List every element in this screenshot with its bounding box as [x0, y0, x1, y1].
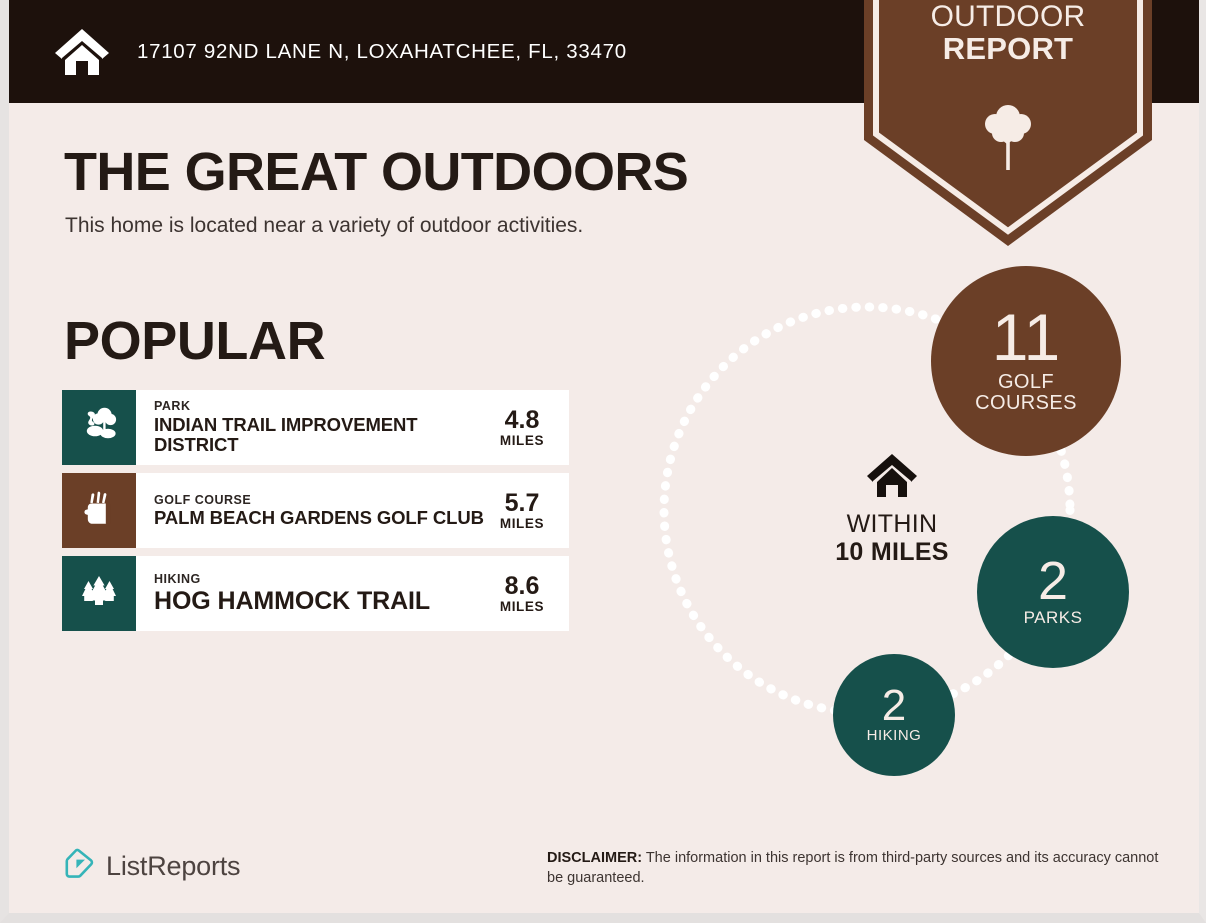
within-label-line2: 10 MILES — [767, 539, 1017, 567]
stat-bubble-parks[interactable]: 2 PARKS — [977, 516, 1129, 668]
page-title: THE GREAT OUTDOORS — [64, 141, 688, 203]
stat-value: 2 — [1038, 557, 1068, 607]
disclaimer-label: DISCLAIMER: — [547, 850, 642, 866]
stat-label: PARKS — [1024, 609, 1083, 627]
outdoor-report-badge: OUTDOOR REPORT — [864, 0, 1152, 246]
list-item[interactable]: GOLF COURSE PALM BEACH GARDENS GOLF CLUB… — [62, 473, 569, 548]
poi-category: HIKING — [154, 572, 481, 588]
poi-category: GOLF COURSE — [154, 493, 481, 509]
stat-label-line1: GOLF — [998, 371, 1054, 393]
property-address: 17107 92ND LANE N, LOXAHATCHEE, FL, 3347… — [137, 40, 627, 64]
poi-distance-unit: MILES — [500, 433, 544, 448]
poi-distance: 8.6 MILES — [481, 556, 569, 631]
listreports-logo[interactable]: ListReports — [64, 848, 240, 885]
poi-distance: 4.8 MILES — [481, 390, 569, 465]
poi-distance-value: 4.8 — [505, 407, 540, 433]
tree-icon — [982, 100, 1034, 172]
poi-icon-tile — [62, 473, 136, 548]
poi-name: PALM BEACH GARDENS GOLF CLUB — [154, 508, 481, 528]
poi-name: HOG HAMMOCK TRAIL — [154, 588, 481, 616]
stat-label: GOLF COURSES — [975, 372, 1077, 415]
listreports-house-icon — [64, 848, 94, 885]
poi-text: GOLF COURSE PALM BEACH GARDENS GOLF CLUB — [136, 473, 481, 548]
page-subtitle: This home is located near a variety of o… — [65, 214, 583, 238]
stat-bubble-golf-courses[interactable]: 11 GOLF COURSES — [931, 266, 1121, 456]
poi-distance-value: 5.7 — [505, 490, 540, 516]
list-item[interactable]: HIKING HOG HAMMOCK TRAIL 8.6 MILES — [62, 556, 569, 631]
home-icon — [865, 487, 919, 504]
pine-trees-icon — [79, 571, 119, 616]
list-item[interactable]: PARK INDIAN TRAIL IMPROVEMENT DISTRICT 4… — [62, 390, 569, 465]
outdoor-report-page: 17107 92ND LANE N, LOXAHATCHEE, FL, 3347… — [0, 0, 1206, 923]
listreports-wordmark: ListReports — [106, 851, 240, 882]
poi-category: PARK — [154, 399, 481, 415]
poi-name: INDIAN TRAIL IMPROVEMENT DISTRICT — [154, 415, 481, 456]
poi-text: PARK INDIAN TRAIL IMPROVEMENT DISTRICT — [136, 390, 481, 465]
poi-distance-value: 8.6 — [505, 573, 540, 599]
poi-text: HIKING HOG HAMMOCK TRAIL — [136, 556, 481, 631]
stat-bubble-hiking[interactable]: 2 HIKING — [833, 654, 955, 776]
poi-distance-unit: MILES — [500, 599, 544, 614]
section-heading-popular: POPULAR — [64, 310, 325, 372]
poi-icon-tile — [62, 390, 136, 465]
diagram-center: WITHIN 10 MILES — [767, 452, 1017, 566]
golf-bag-icon — [79, 488, 119, 533]
within-label-line1: WITHIN — [767, 511, 1017, 539]
stat-label-line2: COURSES — [975, 392, 1077, 414]
stat-value: 2 — [882, 686, 906, 726]
home-icon — [53, 27, 111, 77]
stat-value: 11 — [992, 307, 1061, 368]
poi-icon-tile — [62, 556, 136, 631]
within-radius-diagram: WITHIN 10 MILES 11 GOLF COURSES 2 PARKS … — [617, 262, 1157, 792]
disclaimer: DISCLAIMER: The information in this repo… — [547, 848, 1167, 888]
popular-list: PARK INDIAN TRAIL IMPROVEMENT DISTRICT 4… — [62, 390, 569, 639]
park-icon — [79, 405, 119, 450]
poi-distance-unit: MILES — [500, 516, 544, 531]
poi-distance: 5.7 MILES — [481, 473, 569, 548]
stat-label: HIKING — [867, 728, 922, 744]
